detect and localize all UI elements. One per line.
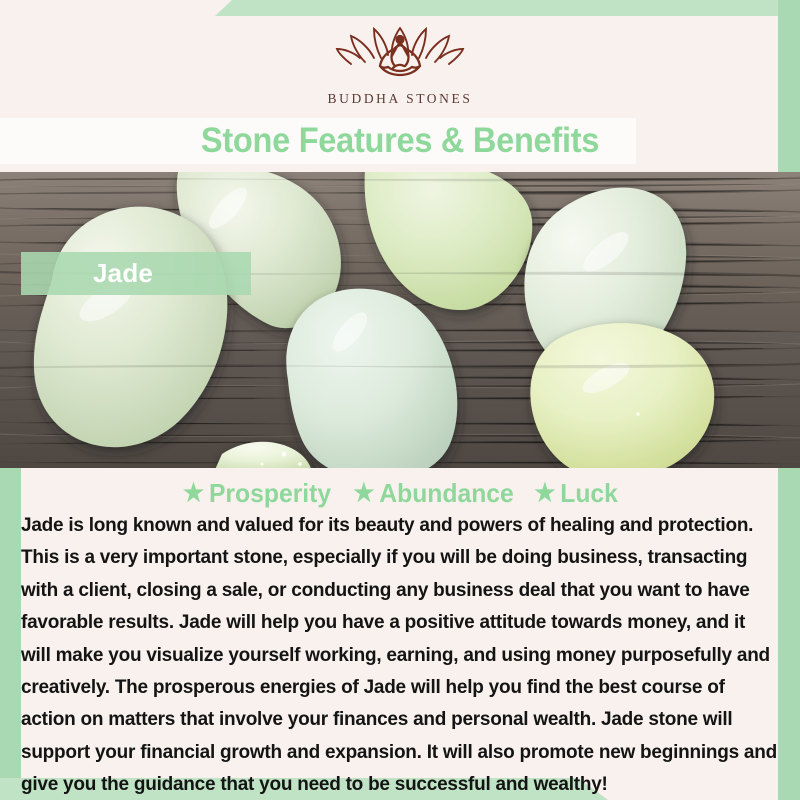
brand-logo: BUDDHA STONES (0, 18, 800, 107)
star-icon: ★ (535, 481, 556, 506)
benefits-row: ★ Prosperity ★ Abundance ★ Luck (0, 478, 800, 509)
stone-name-label: Jade (21, 258, 153, 289)
benefit-label: Prosperity (209, 478, 331, 509)
benefit-label: Luck (561, 478, 619, 509)
lotus-meditation-icon (325, 18, 475, 86)
brand-name: BUDDHA STONES (328, 91, 473, 107)
photo-grain-overlay (0, 172, 800, 468)
star-icon: ★ (183, 481, 204, 506)
benefit-item-abundance: ★ Abundance (354, 478, 515, 509)
stone-description: Jade is long known and valued for its be… (21, 510, 779, 800)
decorative-band-top (215, 0, 800, 16)
star-icon: ★ (354, 481, 375, 506)
benefit-item-luck: ★ Luck (535, 478, 619, 509)
stone-name-band: Jade (21, 252, 251, 295)
benefit-item-prosperity: ★ Prosperity (183, 478, 331, 509)
infographic-card: BUDDHA STONES Stone Features & Benefits (0, 0, 800, 800)
benefit-label: Abundance (380, 478, 514, 509)
jade-stones-photo (0, 172, 800, 468)
page-title: Stone Features & Benefits (28, 119, 772, 163)
